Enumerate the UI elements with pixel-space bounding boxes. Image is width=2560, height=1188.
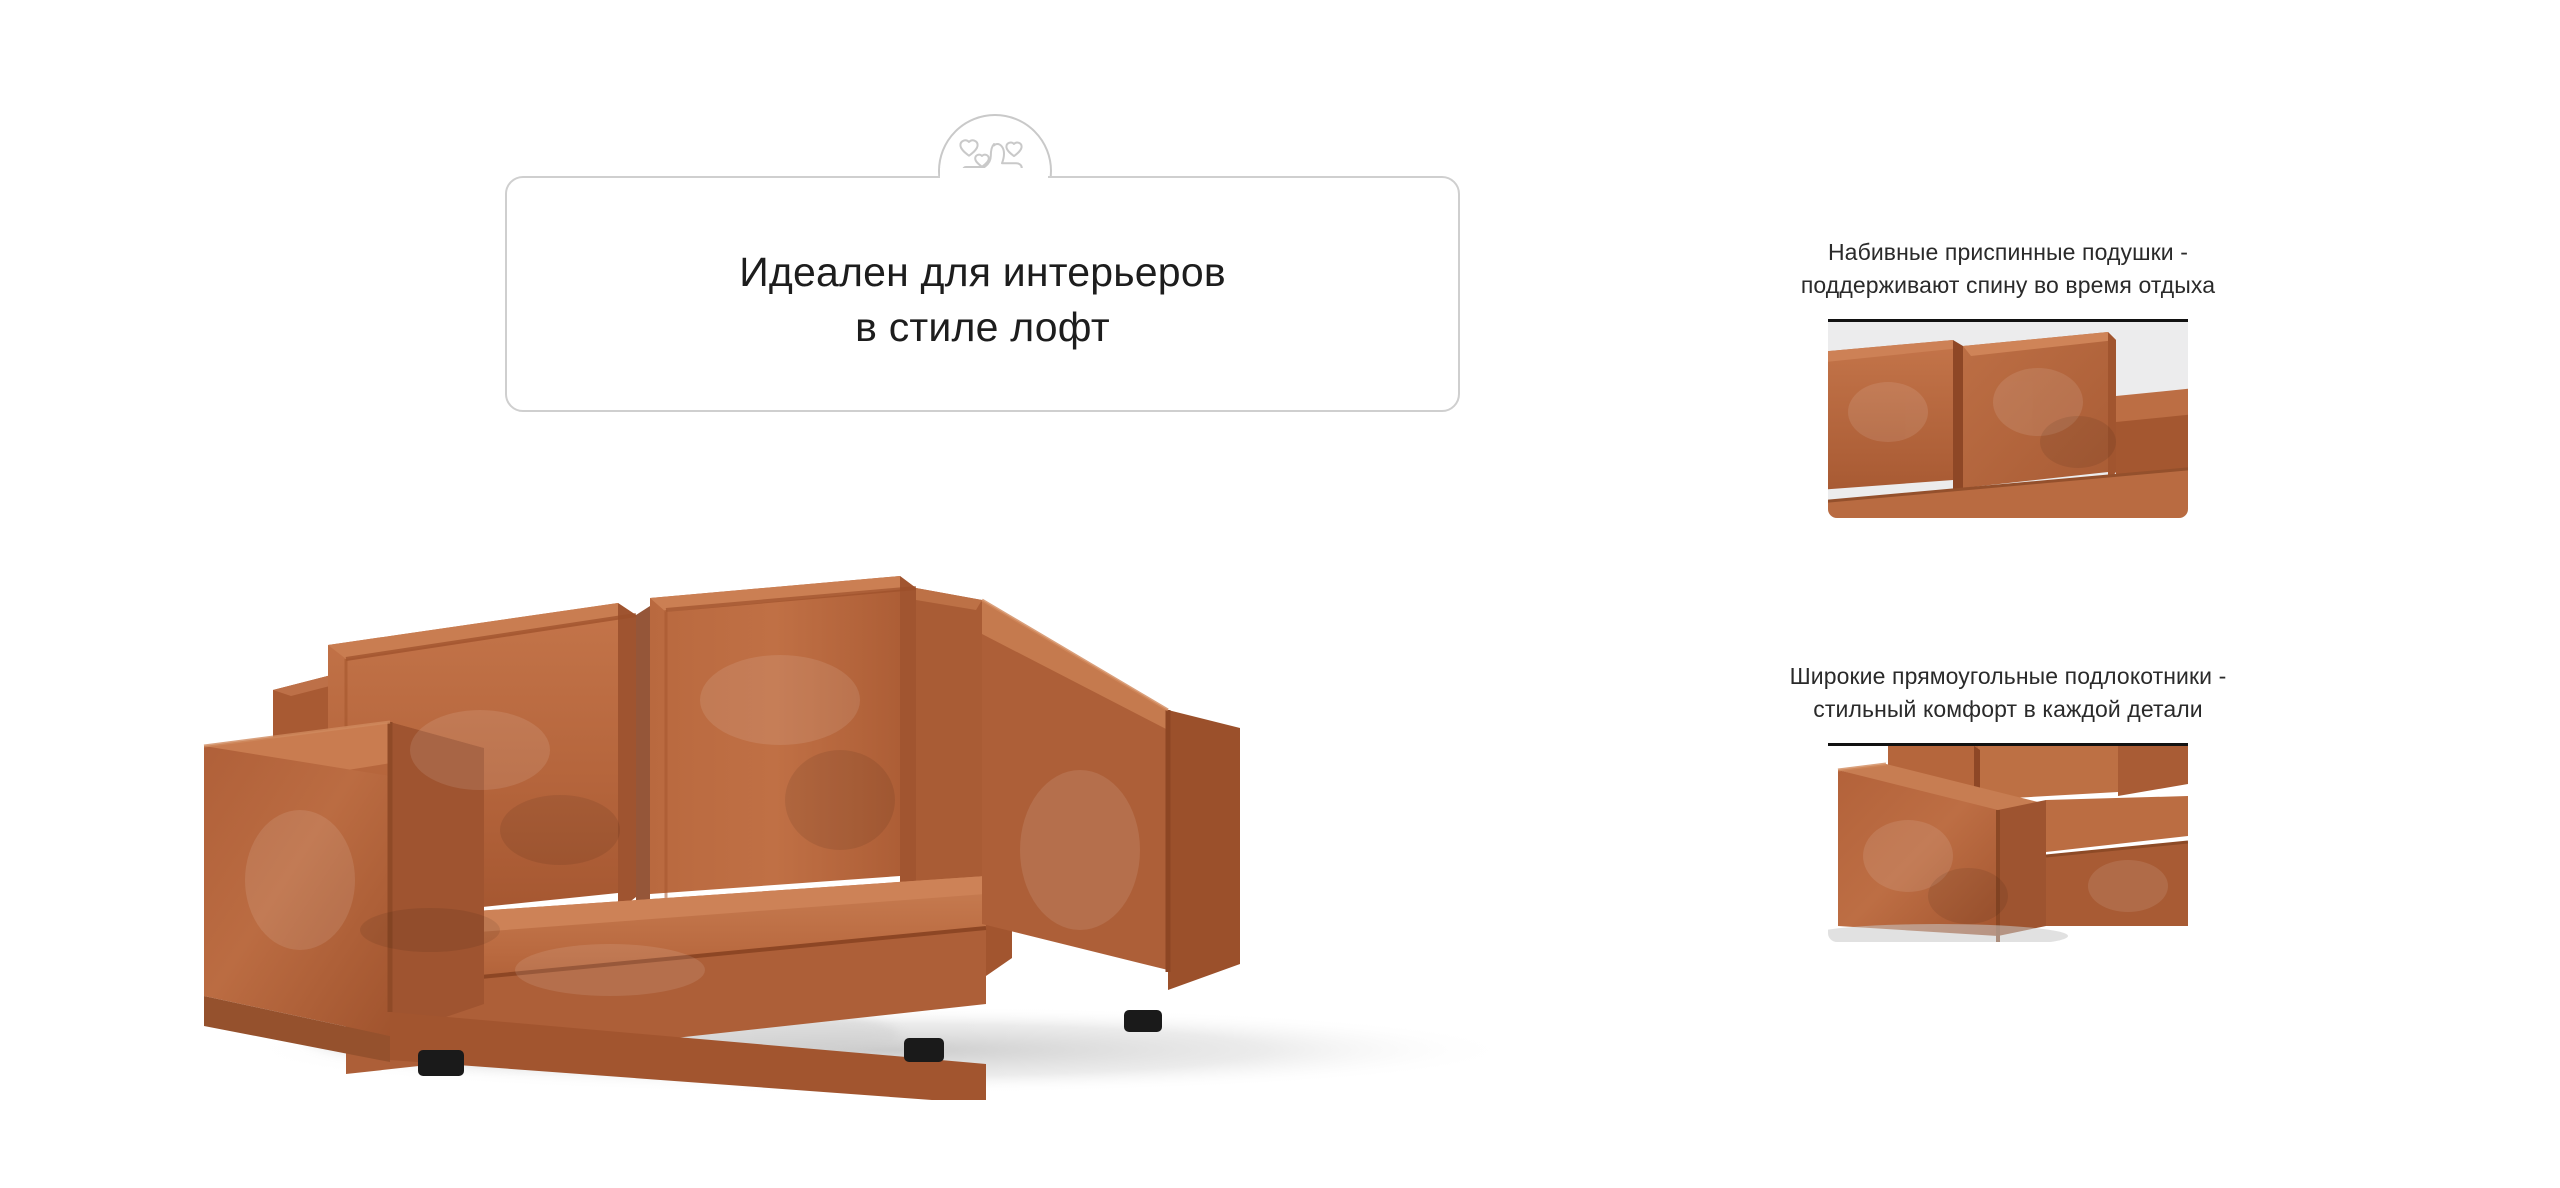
detail-panel-armrest: Широкие прямоугольные подлокотники - сти… bbox=[1778, 660, 2238, 942]
sofa-illustration bbox=[180, 450, 1740, 1100]
detail-caption-1: Набивные приспинные подушки - поддержива… bbox=[1778, 236, 2238, 301]
sofa-leg bbox=[418, 1050, 464, 1076]
headline-text: Идеален для интерьеров в стиле лофт bbox=[505, 245, 1460, 356]
callout-badge-notch bbox=[940, 168, 1048, 188]
sofa-main-image bbox=[180, 450, 1740, 1100]
sofa-leg bbox=[904, 1038, 944, 1062]
detail-caption-2: Широкие прямоугольные подлокотники - сти… bbox=[1778, 660, 2238, 725]
sofa-leg bbox=[1124, 1010, 1162, 1032]
detail-thumb-1 bbox=[1828, 322, 2188, 518]
detail-panel-back-cushions: Набивные приспинные подушки - поддержива… bbox=[1778, 236, 2238, 518]
back-cushions-closeup-image bbox=[1828, 322, 2188, 518]
armrest-closeup-image bbox=[1828, 746, 2188, 942]
detail-thumb-2 bbox=[1828, 746, 2188, 942]
